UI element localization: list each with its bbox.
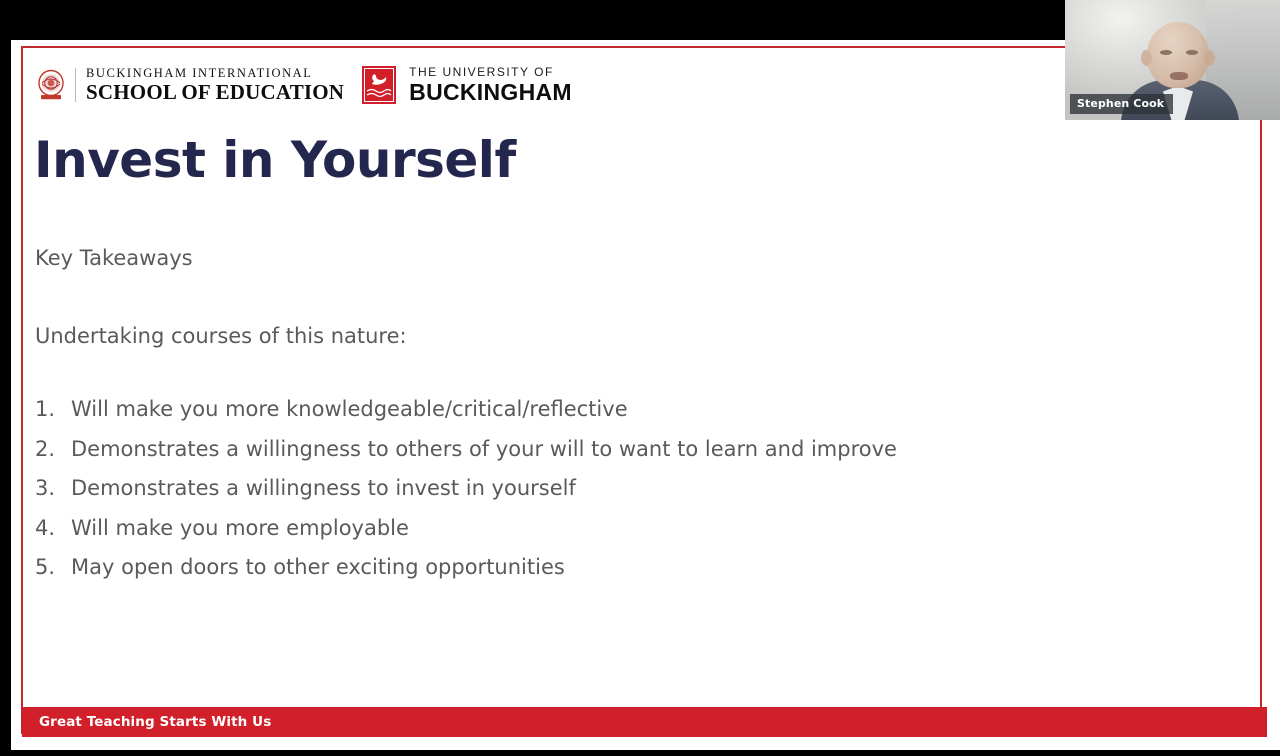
bise-logo: BUCKINGHAM INTERNATIONAL SCHOOL OF EDUCA… (36, 67, 344, 103)
list-item-text: May open doors to other exciting opportu… (71, 557, 1185, 578)
intro-line: Undertaking courses of this nature: (35, 326, 1185, 347)
screen-bottom-strip (0, 750, 1280, 756)
screen-root: BUCKINGHAM INTERNATIONAL SCHOOL OF EDUCA… (0, 0, 1280, 756)
participant-name-badge: Stephen Cook (1070, 94, 1173, 114)
list-item-text: Will make you more knowledgeable/critica… (71, 399, 1185, 420)
slide-body: Key Takeaways Undertaking courses of thi… (35, 248, 1185, 597)
list-item: 4. Will make you more employable (35, 518, 1185, 539)
participant-eye-left (1160, 50, 1172, 55)
list-item-number: 1. (35, 399, 71, 420)
bise-line2: SCHOOL OF EDUCATION (86, 82, 344, 103)
participant-mouth (1170, 72, 1188, 80)
slide-footer-bar: Great Teaching Starts With Us (22, 707, 1267, 737)
university-logo: THE UNIVERSITY OF BUCKINGHAM (362, 66, 572, 104)
key-takeaways-heading: Key Takeaways (35, 248, 1185, 269)
list-item: 3. Demonstrates a willingness to invest … (35, 478, 1185, 499)
list-item-number: 3. (35, 478, 71, 499)
bise-wordmark: BUCKINGHAM INTERNATIONAL SCHOOL OF EDUCA… (86, 67, 344, 103)
list-item-text: Will make you more employable (71, 518, 1185, 539)
list-item: 1. Will make you more knowledgeable/crit… (35, 399, 1185, 420)
list-item-text: Demonstrates a willingness to others of … (71, 439, 1185, 460)
swan-shield-icon (362, 66, 396, 104)
logo-divider (75, 68, 76, 102)
list-item-number: 5. (35, 557, 71, 578)
rose-crest-icon (36, 69, 66, 101)
slide-bottom-margin (11, 738, 1280, 750)
list-item-number: 2. (35, 439, 71, 460)
slide-title: Invest in Yourself (34, 131, 516, 189)
participant-video-tile[interactable]: Stephen Cook (1065, 0, 1280, 120)
takeaways-list: 1. Will make you more knowledgeable/crit… (35, 399, 1185, 578)
list-item-text: Demonstrates a willingness to invest in … (71, 478, 1185, 499)
participant-ear-right (1204, 50, 1215, 66)
participant-eye-right (1186, 50, 1198, 55)
logo-row: BUCKINGHAM INTERNATIONAL SCHOOL OF EDUCA… (36, 66, 572, 104)
list-item-number: 4. (35, 518, 71, 539)
university-line1: THE UNIVERSITY OF (409, 66, 572, 78)
bise-line1: BUCKINGHAM INTERNATIONAL (86, 67, 344, 80)
university-wordmark: THE UNIVERSITY OF BUCKINGHAM (409, 66, 572, 104)
list-item: 5. May open doors to other exciting oppo… (35, 557, 1185, 578)
participant-ear-left (1141, 50, 1152, 66)
list-item: 2. Demonstrates a willingness to others … (35, 439, 1185, 460)
footer-tagline: Great Teaching Starts With Us (39, 714, 271, 730)
university-line2: BUCKINGHAM (409, 81, 572, 104)
